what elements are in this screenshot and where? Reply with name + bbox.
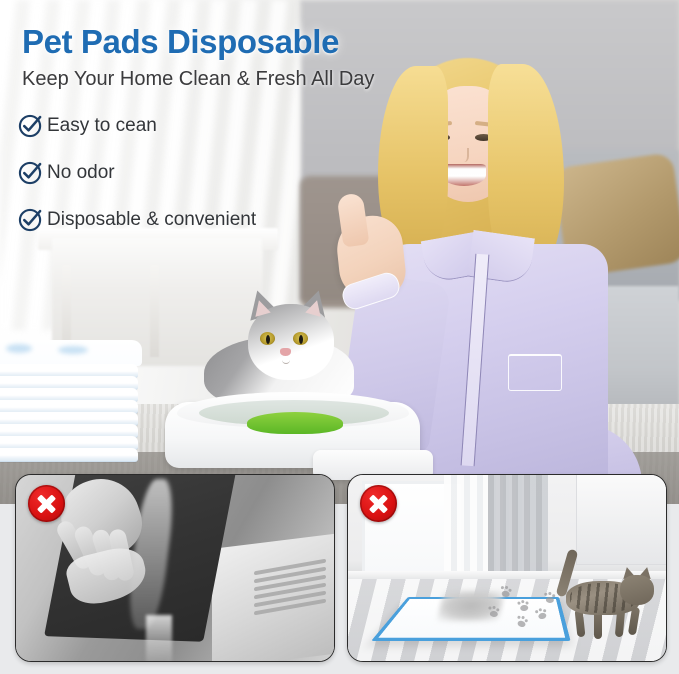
check-circle-icon	[18, 207, 43, 232]
kitten-leg	[594, 611, 602, 639]
benefit-list: Easy to cean No odor Disposable & conven…	[18, 113, 338, 254]
paw-print	[487, 606, 500, 618]
benefit-item: Disposable & convenient	[18, 207, 338, 232]
check-circle-icon	[18, 113, 43, 138]
check-circle-icon	[18, 160, 43, 185]
kitten-head	[620, 575, 654, 605]
headline-block: Pet Pads Disposable Keep Your Home Clean…	[22, 24, 442, 91]
cat-nose	[280, 348, 291, 356]
comparison-panel-paw-prints	[347, 474, 667, 662]
nose	[457, 148, 469, 162]
paw-print	[544, 593, 557, 605]
running-water	[146, 615, 172, 661]
pajama-pocket	[508, 354, 562, 391]
benefit-item: No odor	[18, 160, 338, 185]
smiling-mouth	[442, 164, 486, 186]
disposable-pad-stack	[0, 352, 148, 460]
red-x-icon	[360, 485, 397, 522]
pad-blue-marking	[58, 346, 88, 354]
benefit-label: No odor	[47, 162, 115, 184]
green-litter-pad	[247, 412, 343, 434]
benefit-item: Easy to cean	[18, 113, 338, 138]
pad-sheet	[0, 448, 138, 462]
litter-box	[165, 388, 420, 474]
page-subtitle: Keep Your Home Clean & Fresh All Day	[22, 67, 442, 91]
cat-pupil-left	[266, 335, 270, 344]
benefit-label: Easy to cean	[47, 115, 157, 137]
page-title: Pet Pads Disposable	[22, 24, 442, 61]
side-table-leg	[150, 265, 159, 357]
red-x-icon	[28, 485, 65, 522]
paw-print	[499, 586, 513, 599]
product-ad-image: Pet Pads Disposable Keep Your Home Clean…	[0, 0, 679, 674]
cat-mouth	[282, 356, 290, 364]
pad-blue-marking	[6, 344, 32, 353]
paw-print	[517, 600, 530, 613]
comparison-panel-washing	[15, 474, 335, 662]
kitten	[560, 559, 656, 645]
benefit-label: Disposable & convenient	[47, 209, 256, 231]
wardrobe	[576, 475, 666, 565]
cat-pupil-right	[299, 335, 303, 344]
